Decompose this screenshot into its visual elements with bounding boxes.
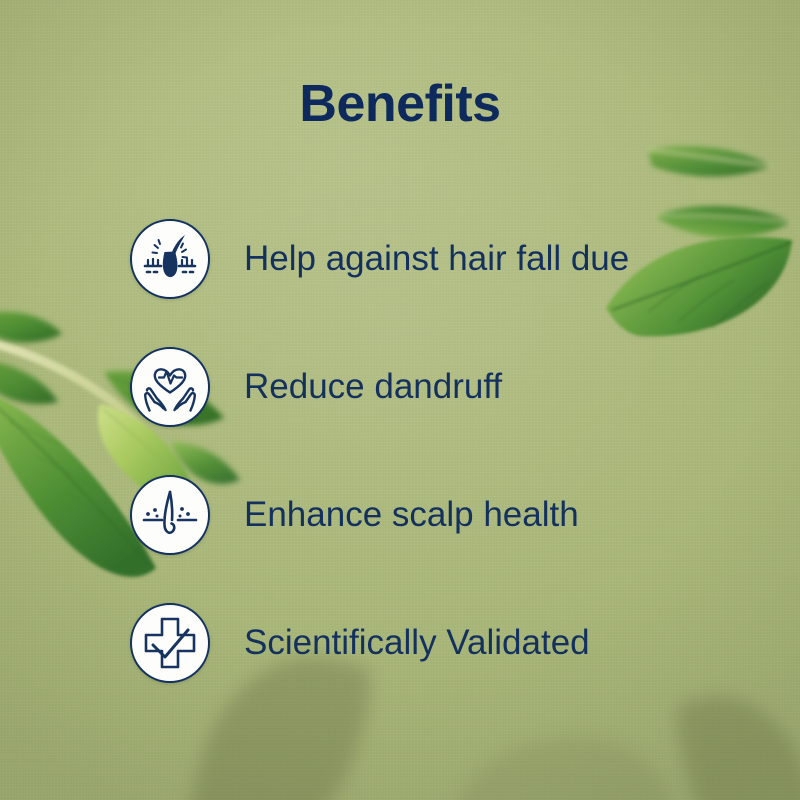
list-item: Enhance scalp health bbox=[130, 469, 770, 561]
list-item-label: Enhance scalp health bbox=[244, 496, 579, 535]
list-item: Scientifically Validated bbox=[130, 597, 770, 689]
hair-fall-follicle-icon bbox=[130, 219, 210, 299]
medical-cross-check-icon bbox=[130, 603, 210, 683]
list-item-label: Scientifically Validated bbox=[244, 624, 590, 663]
list-item-label: Reduce dandruff bbox=[244, 368, 502, 407]
scalp-follicle-icon bbox=[130, 475, 210, 555]
list-item-label: Help against hair fall due bbox=[244, 240, 629, 279]
benefits-list: Help against hair fall due bbox=[130, 213, 770, 689]
list-item: Help against hair fall due bbox=[130, 213, 770, 305]
page-title: Benefits bbox=[0, 78, 800, 130]
poster-content: Benefits bbox=[0, 0, 800, 800]
list-item: Reduce dandruff bbox=[130, 341, 770, 433]
heart-pulse-in-hands-icon bbox=[130, 347, 210, 427]
